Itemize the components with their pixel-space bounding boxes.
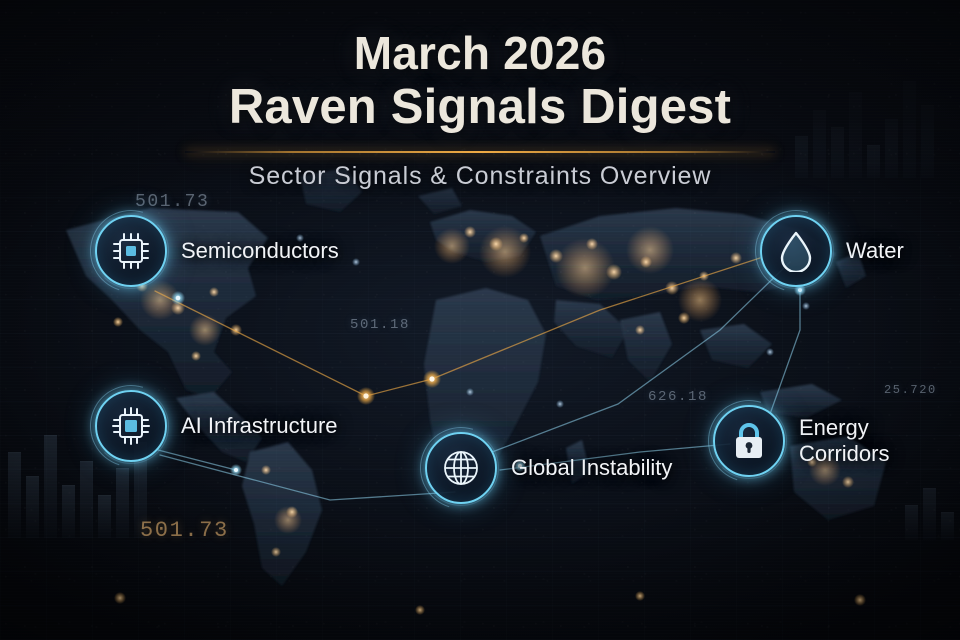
node-ai-infrastructure[interactable]: AI Infrastructure (95, 390, 338, 462)
background-readout-1: 501.73 (135, 192, 209, 212)
node-water[interactable]: Water (760, 215, 904, 287)
background-readout-5: 25.720 (884, 383, 937, 397)
node-label-energy-corridors: Energy Corridors (799, 415, 889, 467)
chip-icon (111, 231, 151, 271)
processor-icon (111, 406, 151, 446)
page-subtitle: Sector Signals & Constraints Overview (0, 162, 960, 191)
title-line-brand: Raven Signals Digest (0, 80, 960, 134)
node-label-semiconductors: Semiconductors (181, 238, 339, 264)
node-label-ai-infrastructure: AI Infrastructure (181, 413, 338, 439)
page-title: March 2026 Raven Signals Digest (0, 26, 960, 134)
poster-header: March 2026 Raven Signals Digest (0, 26, 960, 134)
node-label-global-instability: Global Instability (511, 455, 672, 481)
water-drop-icon (777, 230, 815, 272)
node-ring-ai-infrastructure (95, 390, 167, 462)
title-divider (185, 151, 775, 153)
node-label-water: Water (846, 238, 904, 264)
node-energy-corridors[interactable]: Energy Corridors (713, 405, 889, 477)
globe-icon (440, 447, 482, 489)
node-semiconductors[interactable]: Semiconductors (95, 215, 339, 287)
node-ring-water (760, 215, 832, 287)
background-readout-4: 501.73 (140, 518, 229, 543)
lock-icon (731, 420, 767, 462)
node-ring-semiconductors (95, 215, 167, 287)
background-readout-3: 626.18 (648, 389, 708, 405)
background-readout-2: 501.18 (350, 317, 410, 333)
signals-digest-poster: March 2026 Raven Signals Digest Sector S… (0, 0, 960, 640)
node-ring-energy-corridors (713, 405, 785, 477)
node-ring-global-instability (425, 432, 497, 504)
node-global-instability[interactable]: Global Instability (425, 432, 672, 504)
title-line-month: March 2026 (0, 26, 960, 80)
